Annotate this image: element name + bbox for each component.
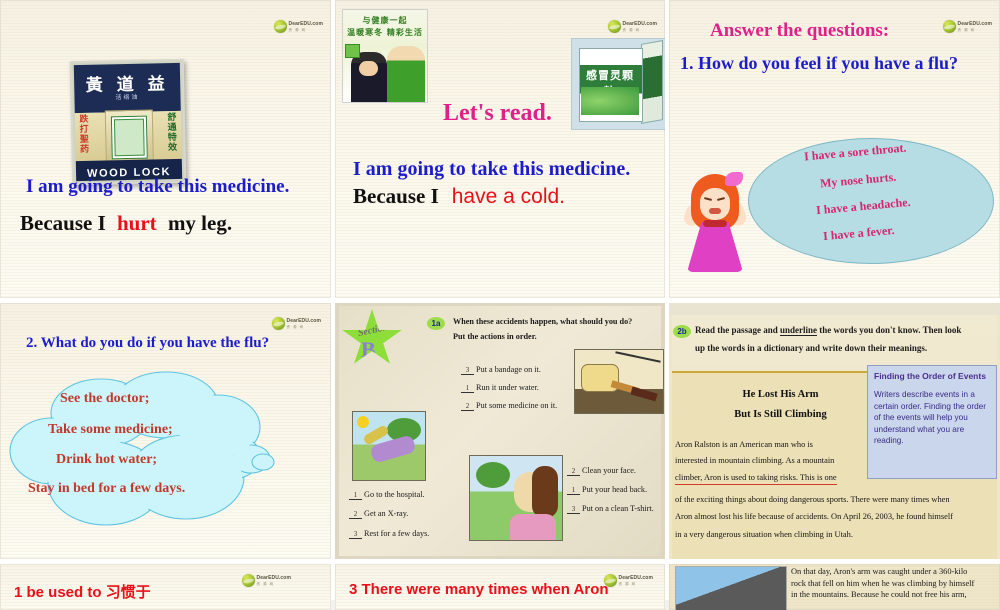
slide-thumbnail-9[interactable]: On that day, Aron's arm was caught under… (669, 564, 1000, 610)
list-item: 2 Get an X-ray. (349, 509, 408, 519)
list-text: Get an X-ray. (364, 509, 408, 518)
cut-finger-knife-picture (574, 349, 664, 414)
list-text: Put your head back. (582, 485, 647, 494)
passage-line-4: Aron almost lost his life because of acc… (675, 511, 953, 523)
list-number: 3 (461, 366, 474, 375)
green-globe-icon (242, 574, 255, 587)
list-text: Go to the hospital. (364, 490, 425, 499)
textbook-page-scan: Section B 1a When these accidents happen… (335, 303, 665, 559)
cold-medicine-ad-image: 与健康一起 温暖寒冬 精彩生活 (342, 9, 428, 103)
list-number: 2 (461, 402, 474, 411)
list-item: 3 Put on a clean T-shirt. (567, 504, 654, 514)
slide-thumbnail-grid: 黃 道 益 活络油 跌打聖药 舒通特效 WOOD LOCK DearEDU.co… (0, 0, 1000, 600)
green-globe-icon (943, 20, 956, 33)
watermark-logo: DearEDU.com 资 源 网 (274, 20, 323, 33)
list-text: Put a bandage on it. (476, 365, 541, 374)
list-number: 1 (349, 491, 362, 500)
slide9-text: On that day, Aron's arm was caught under… (791, 566, 998, 601)
slide2-line1: I am going to take this medicine. (353, 158, 630, 181)
list-item: 1 Go to the hospital. (349, 490, 425, 500)
list-number: 3 (567, 505, 580, 514)
slide4-answer-0: See the doctor; (60, 391, 149, 407)
list-item: 1 Put your head back. (567, 485, 647, 495)
slide5-instruction-line2: Put the actions in order. (453, 332, 537, 341)
sidebar-title: Finding the Order of Events (874, 371, 986, 381)
watermark-subtitle: 资 源 网 (619, 581, 653, 586)
watermark-subtitle: 资 源 网 (287, 324, 321, 329)
slide2-heading: Let's read. (443, 100, 552, 127)
slide6-instruction-line1: Read the passage and underline the words… (695, 325, 961, 335)
slide-thumbnail-5[interactable]: Section B 1a When these accidents happen… (335, 303, 665, 559)
passage-title-line1: He Lost His Arm (669, 389, 892, 400)
climber-on-cliff-photo (675, 566, 787, 610)
instruction-part-b: the words you don't know. Then look (817, 325, 961, 335)
slide-thumbnail-2[interactable]: 与健康一起 温暖寒冬 精彩生活 感冒灵颗粒 DearEDU.com 资 源 网 (335, 0, 665, 298)
list-number: 2 (349, 510, 362, 519)
slide-thumbnail-3[interactable]: DearEDU.com 资 源 网 Answer the questions: … (669, 0, 1000, 298)
girl-nosebleed-picture (469, 455, 563, 541)
slide2-line2-highlight: have a cold. (452, 185, 565, 208)
watermark-subtitle: 资 源 网 (257, 581, 291, 586)
ad-chinese-line1: 与健康一起 (343, 15, 427, 26)
slide2-line2-prefix: Because I (353, 184, 439, 208)
list-text: Rest for a few days. (364, 529, 429, 538)
activity-badge-1a: 1a (427, 317, 445, 330)
instruction-underlined-word: underline (780, 325, 817, 336)
slide7-text: 1 be used to 习惯于 (14, 581, 151, 602)
list-item: 3 Put a bandage on it. (461, 365, 541, 375)
passage-line-1: interested in mountain climbing. As a mo… (675, 455, 834, 467)
activity-badge-2b: 2b (673, 325, 691, 338)
person-falling-picture (352, 411, 426, 481)
slide-thumbnail-4[interactable]: DearEDU.com 资 源 网 2. What do you do if y… (0, 303, 331, 559)
slide1-line2-suffix: my leg. (168, 211, 232, 235)
list-item: 3 Rest for a few days. (349, 529, 429, 539)
passage-line-2: climber, Aron is used to taking risks. T… (675, 472, 837, 485)
slide9-line-0: On that day, Aron's arm was caught under… (791, 566, 998, 578)
watermark-logo: DearEDU.com 资 源 网 (272, 317, 321, 330)
slide1-line2-prefix: Because I (20, 211, 106, 235)
passage-line-0: Aron Ralston is an American man who is (675, 439, 813, 451)
list-number: 3 (349, 530, 362, 539)
slide8-text: 3 There were many times when Aron (349, 581, 609, 598)
slide-thumbnail-7[interactable]: DearEDU.com 资 源 网 1 be used to 习惯于 (0, 564, 331, 610)
watermark-logo: DearEDU.com 资 源 网 (608, 20, 657, 33)
passage-title-line2: But Is Still Climbing (669, 409, 892, 420)
list-number: 2 (567, 467, 580, 476)
watermark-subtitle: 资 源 网 (958, 27, 992, 32)
reading-passage-scan: 2b Read the passage and underline the wo… (669, 303, 1000, 559)
slide-thumbnail-8[interactable]: DearEDU.com 资 源 网 3 There were many time… (335, 564, 665, 610)
instruction-part-a: Read the passage and (695, 325, 780, 335)
watermark-logo: DearEDU.com 资 源 网 (943, 20, 992, 33)
medicine-right-chinese: 舒通特效 (165, 113, 180, 153)
watermark-logo: DearEDU.com 资 源 网 (242, 574, 291, 587)
list-text: Put some medicine on it. (476, 401, 557, 410)
cartoon-girl-headache-illustration (683, 168, 749, 272)
list-item: 2 Put some medicine on it. (461, 401, 557, 411)
slide4-answer-2: Drink hot water; (56, 452, 157, 468)
passage-line-3: of the exciting things about doing dange… (675, 494, 950, 506)
wood-lock-medicine-image: 黃 道 益 活络油 跌打聖药 舒通特效 WOOD LOCK (70, 59, 187, 185)
slide9-line-1: rock that fell on him when he was climbi… (791, 578, 998, 590)
watermark-subtitle: 资 源 网 (289, 27, 323, 32)
slide4-question: 2. What do you do if you have the flu? (26, 335, 269, 352)
medicine-left-chinese: 跌打聖药 (77, 115, 92, 155)
slide3-question: 1. How do you feel if you have a flu? (680, 53, 958, 74)
list-text: Put on a clean T-shirt. (582, 504, 654, 513)
list-text: Clean your face. (582, 466, 636, 475)
slide-thumbnail-1[interactable]: 黃 道 益 活络油 跌打聖药 舒通特效 WOOD LOCK DearEDU.co… (0, 0, 331, 298)
slide9-line-2: in the mountains. Because he could not f… (791, 589, 998, 601)
passage-line-5: in a very dangerous situation when climb… (675, 529, 853, 541)
reading-strategy-sidebar: Finding the Order of Events Writers desc… (867, 365, 997, 479)
green-globe-icon (608, 20, 621, 33)
slide-thumbnail-6[interactable]: 2b Read the passage and underline the wo… (669, 303, 1000, 559)
cold-granules-box-image: 感冒灵颗粒 (571, 38, 665, 130)
slide4-answer-3: Stay in bed for a few days. (28, 481, 185, 497)
green-globe-icon (272, 317, 285, 330)
slide3-heading: Answer the questions: (710, 20, 889, 42)
watermark-logo: DearEDU.com 资 源 网 (604, 574, 653, 587)
slide1-line2: Because I hurt my leg. (20, 211, 232, 236)
slide5-instruction-line1: When these accidents happen, what should… (453, 317, 632, 326)
list-number: 1 (461, 384, 474, 393)
green-globe-icon (274, 20, 287, 33)
list-item: 1 Run it under water. (461, 383, 539, 393)
slide2-line2: Because I have a cold. (353, 184, 565, 209)
ad-chinese-line2: 温暖寒冬 精彩生活 (343, 27, 427, 38)
slide1-line2-highlight: hurt (117, 211, 157, 235)
slide6-instruction-line2: up the words in a dictionary and write d… (695, 343, 927, 353)
list-text: Run it under water. (476, 383, 539, 392)
watermark-subtitle: 资 源 网 (623, 27, 657, 32)
slide4-answer-1: Take some medicine; (48, 422, 173, 438)
slide1-line1: I am going to take this medicine. (26, 176, 289, 198)
list-item: 2 Clean your face. (567, 466, 636, 476)
list-number: 1 (567, 486, 580, 495)
